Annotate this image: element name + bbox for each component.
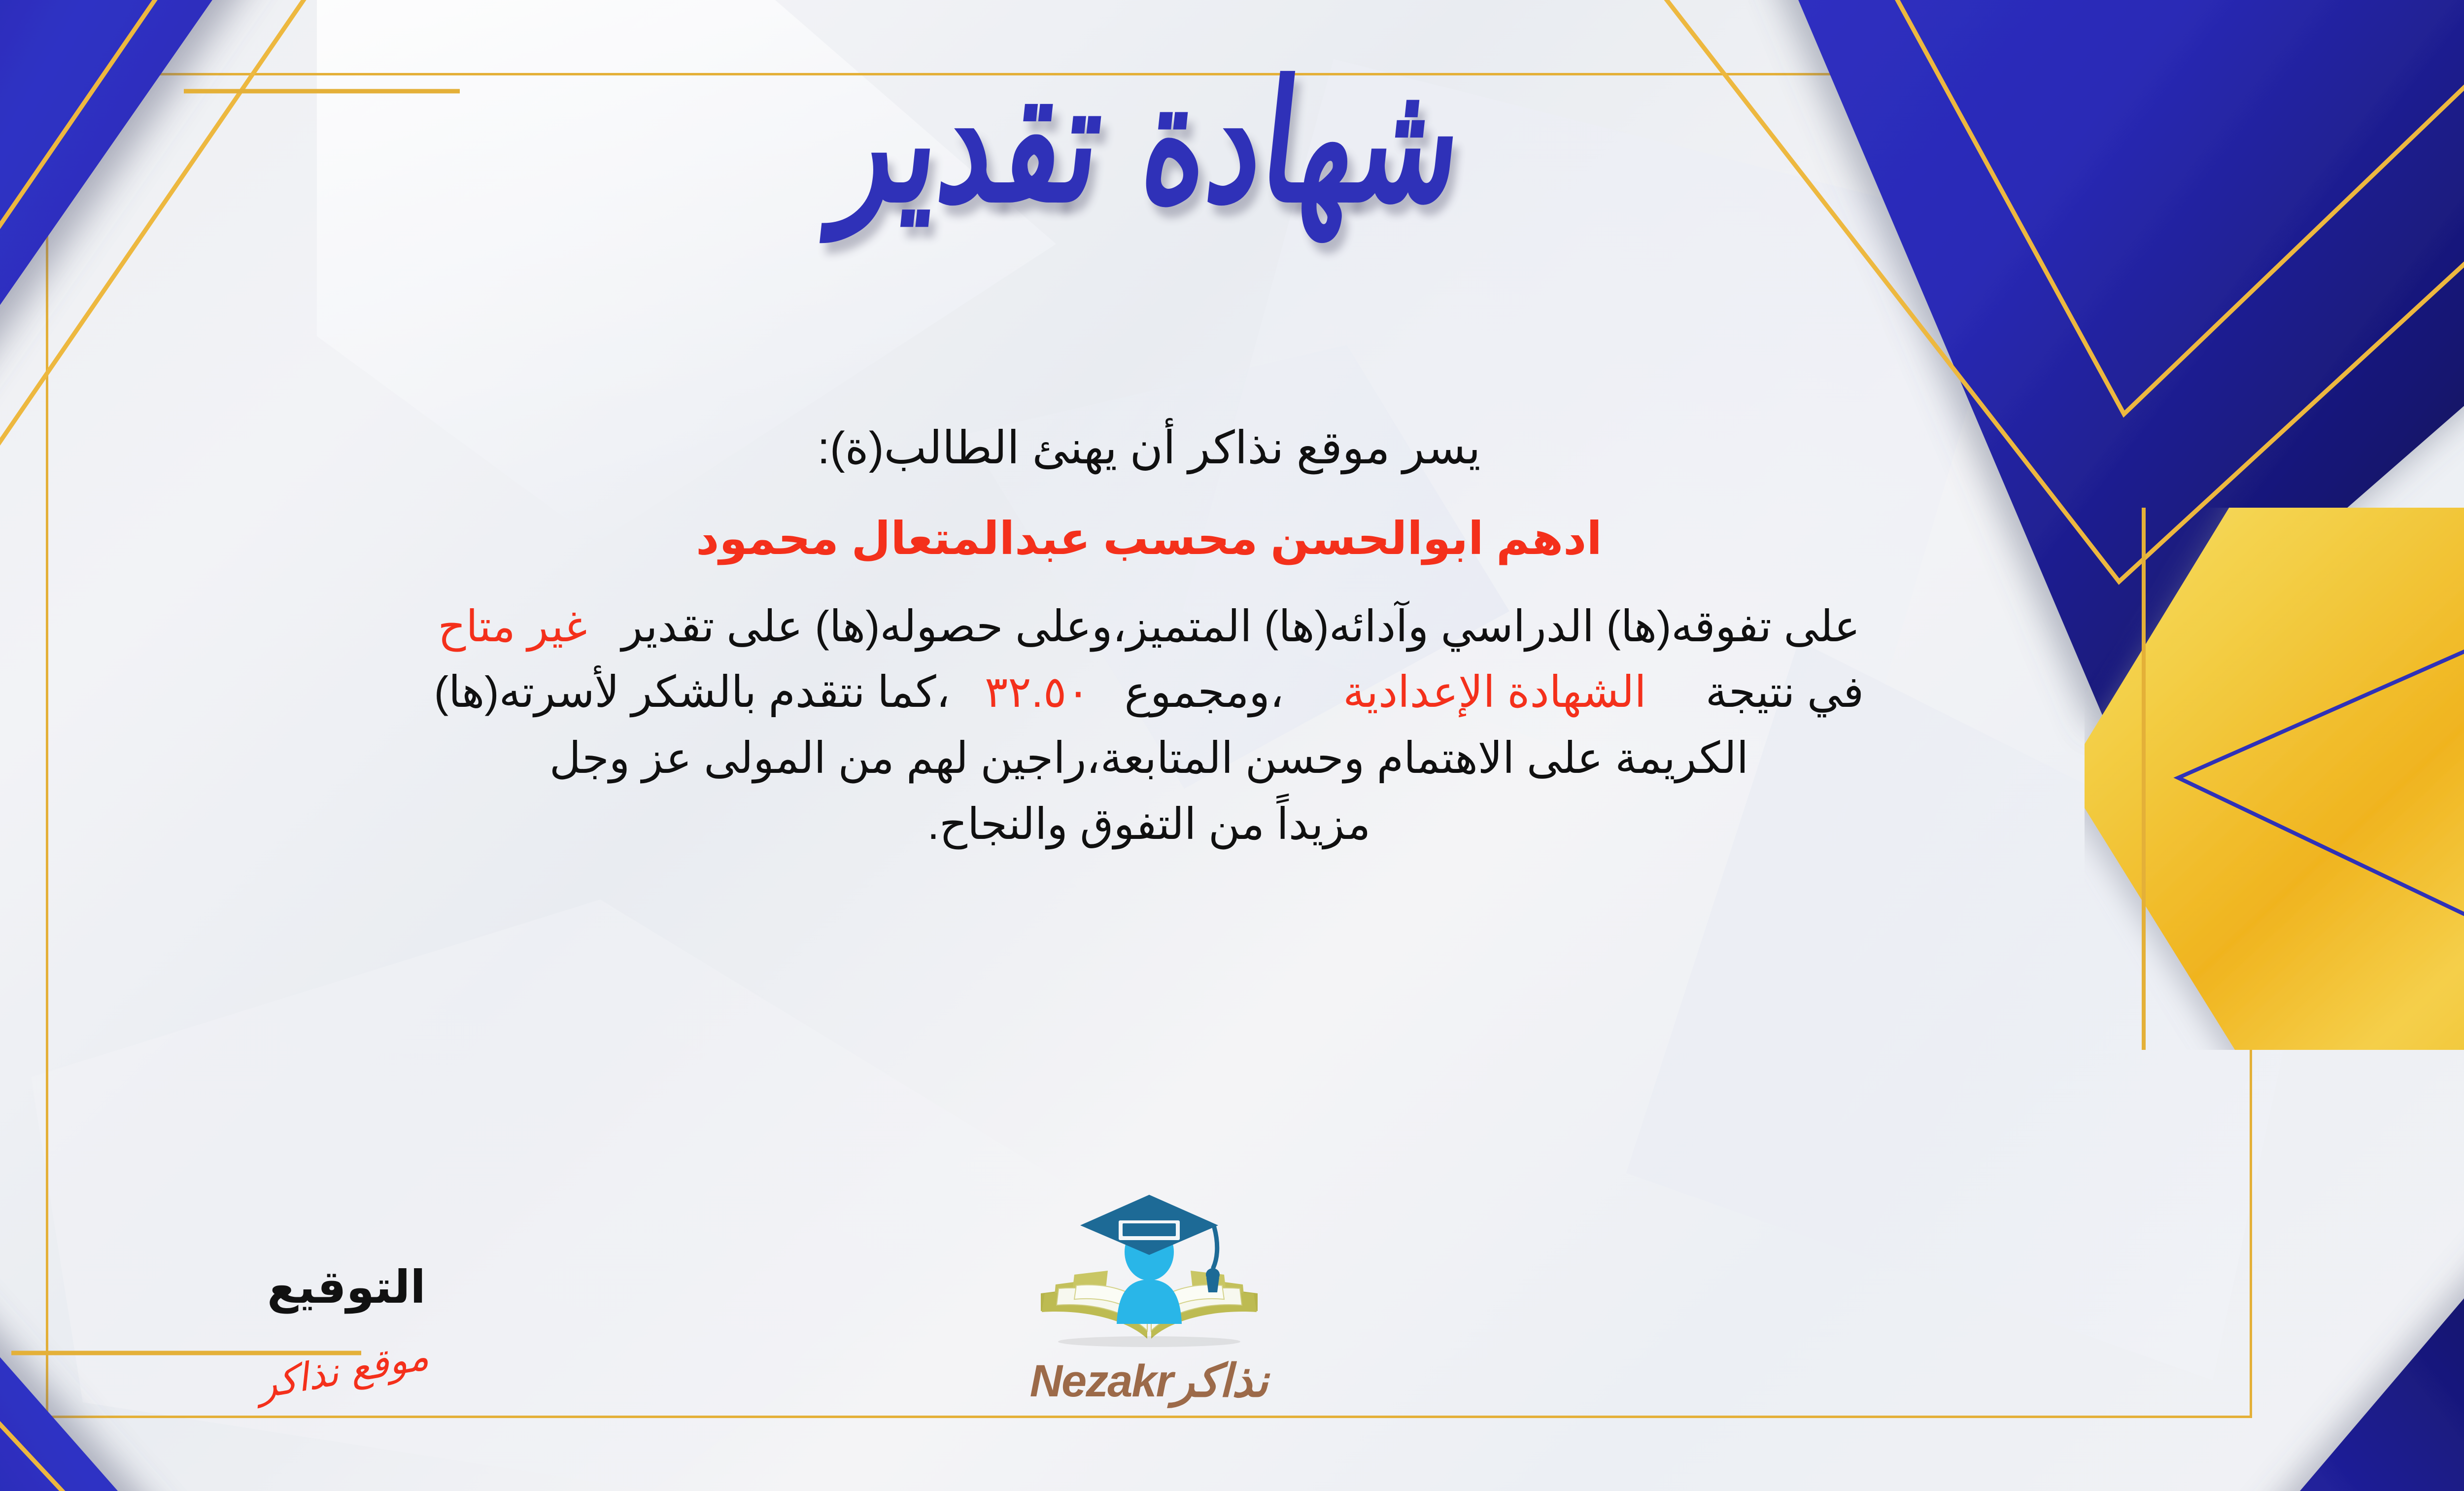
body-line-2-middle: ،ومجموع — [1125, 667, 1284, 716]
site-logo: نذاكرNezakr — [947, 1188, 1351, 1407]
body-line-1-text: على تفوقه(ها) الدراسي وآدائه(ها) المتميز… — [621, 602, 1860, 651]
signature-mark: موقع نذاكر — [259, 1332, 434, 1408]
body-line-1: على تفوقه(ها) الدراسي وآدائه(ها) المتميز… — [0, 593, 2316, 659]
signature-label: التوقيع — [159, 1261, 534, 1314]
certificate-title-area: شهادة تقدير — [0, 74, 2464, 271]
frame-border-bottom — [46, 1416, 2252, 1418]
body-line-4: مزيداً من التفوق والنجاح. — [0, 791, 2316, 857]
body-line-2: في نتيجةالشهادة الإعدادية،ومجموع٣٢.٥٠،كم… — [0, 659, 2316, 725]
body-line-2-suffix: ،كما نتقدم بالشكر لأسرته(ها) — [434, 667, 950, 716]
graduate-book-logo-icon — [1011, 1188, 1287, 1351]
greeting-line: يسر موقع نذاكر أن يهنئ الطالب(ة): — [0, 414, 2316, 483]
certificate-body: يسر موقع نذاكر أن يهنئ الطالب(ة): ادهم ا… — [0, 414, 2316, 857]
body-line-3: الكريمة على الاهتمام وحسن المتابعة،راجين… — [0, 725, 2316, 791]
signature-area: التوقيع موقع نذاكر — [159, 1261, 534, 1392]
background-facet — [31, 900, 1066, 1491]
logo-text-arabic: نذاكر — [1172, 1356, 1268, 1406]
certificate-page: شهادة تقدير يسر موقع نذاكر أن يهنئ الطال… — [0, 0, 2464, 1491]
total-score: ٣٢.٥٠ — [985, 667, 1090, 716]
corner-ornament-bottom-right-icon — [1937, 1077, 2464, 1491]
logo-text-latin: Nezakr — [1030, 1356, 1173, 1406]
body-line-2-prefix: في نتيجة — [1706, 667, 1864, 716]
grade-value: غير متاح — [438, 602, 587, 651]
certificate-title: شهادة تقدير — [827, 50, 1470, 233]
logo-wordmark: نذاكرNezakr — [947, 1354, 1351, 1407]
corner-ornament-bottom-left-icon — [0, 998, 361, 1491]
student-name: ادهم ابوالحسن محسب عبدالمتعال محمود — [0, 505, 2316, 574]
exam-name: الشهادة الإعدادية — [1343, 667, 1646, 716]
